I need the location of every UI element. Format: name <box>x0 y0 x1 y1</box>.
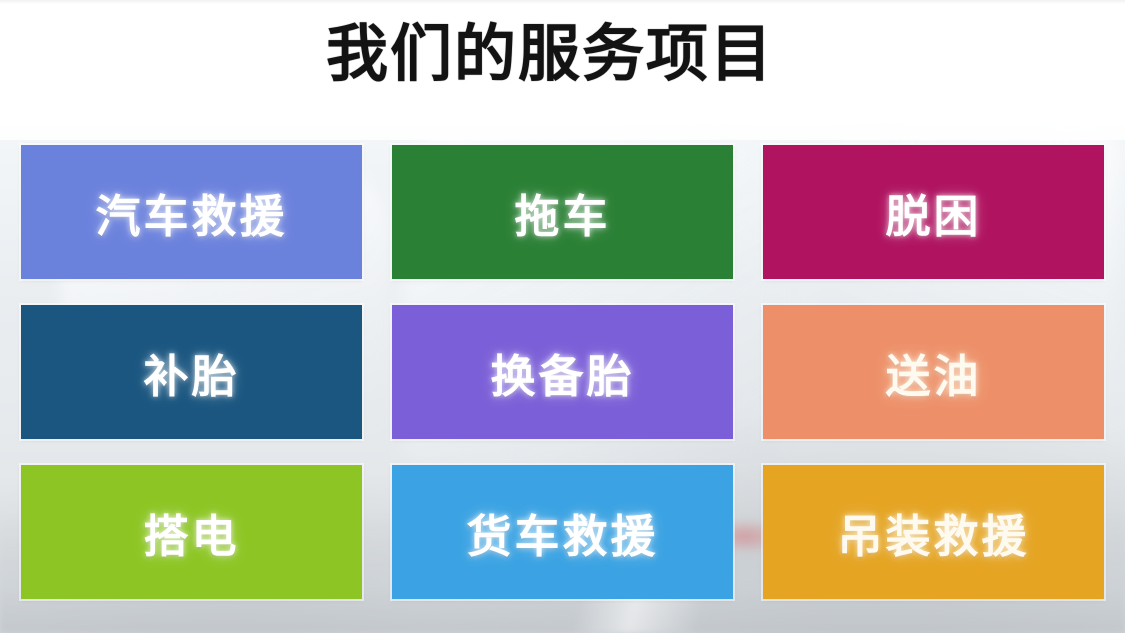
service-tile-label: 搭电 <box>143 500 239 565</box>
service-tile-car-rescue[interactable]: 汽车救援 <box>21 145 362 279</box>
service-tile-extrication[interactable]: 脱困 <box>763 145 1104 279</box>
service-tile-spare-tire-change[interactable]: 换备胎 <box>392 305 733 439</box>
service-tile-label: 拖车 <box>514 180 610 245</box>
service-tile-label: 送油 <box>885 340 981 405</box>
service-tile-tire-repair[interactable]: 补胎 <box>21 305 362 439</box>
service-tile-label: 汽车救援 <box>95 180 287 245</box>
service-tile-label: 换备胎 <box>490 340 634 405</box>
page-title-text: 我们的服务项目 <box>326 22 774 87</box>
service-tile-label: 补胎 <box>143 340 239 405</box>
service-tile-jump-start[interactable]: 搭电 <box>21 465 362 599</box>
service-tile-crane-lifting-rescue[interactable]: 吊装救援 <box>763 465 1104 599</box>
service-tile-label: 吊装救援 <box>837 500 1029 565</box>
service-tile-label: 货车救援 <box>466 500 658 565</box>
service-tile-label: 脱困 <box>885 180 981 245</box>
service-tile-towing[interactable]: 拖车 <box>392 145 733 279</box>
page-title: 我们的服务项目 <box>0 22 1100 87</box>
top-hairline <box>0 0 1125 4</box>
service-tile-fuel-delivery[interactable]: 送油 <box>763 305 1104 439</box>
service-grid: 汽车救援拖车脱困补胎换备胎送油搭电货车救援吊装救援 <box>21 145 1104 601</box>
service-tile-truck-rescue[interactable]: 货车救援 <box>392 465 733 599</box>
service-poster: 我们的服务项目 汽车救援拖车脱困补胎换备胎送油搭电货车救援吊装救援 <box>0 0 1125 633</box>
